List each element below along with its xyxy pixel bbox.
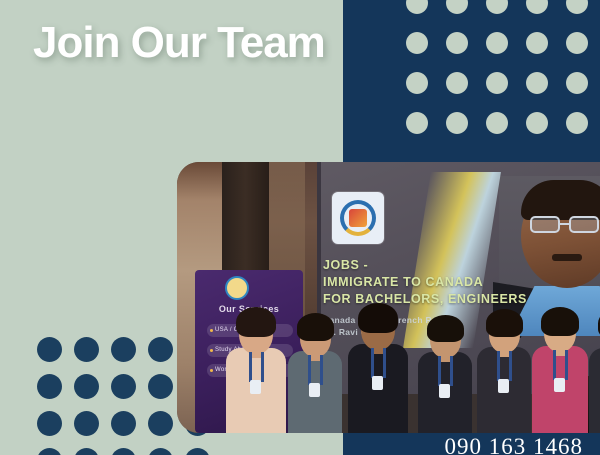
photo-person-badge	[498, 379, 509, 393]
photo-person-lanyard	[261, 352, 264, 382]
decorative-dot	[111, 411, 136, 436]
decorative-dot	[446, 112, 468, 134]
photo-person	[529, 162, 591, 433]
photo-person-lanyard	[383, 348, 386, 378]
decorative-dot	[111, 337, 136, 362]
decorative-dot	[446, 32, 468, 54]
decorative-dot	[446, 0, 468, 14]
photo-person	[225, 162, 287, 433]
decorative-dot	[526, 0, 548, 14]
decorative-dot	[148, 411, 173, 436]
photo-person-lanyard	[371, 348, 374, 378]
photo-person-lanyard	[497, 351, 500, 381]
photo-person-badge	[439, 384, 450, 398]
photo-person-lanyard	[249, 352, 252, 382]
decorative-dot	[446, 72, 468, 94]
team-group-photo: JOBS - IMMIGRATE TO CANADA FOR BACHELORS…	[177, 162, 600, 433]
contact-phone-number: 090 163 1468	[343, 434, 600, 455]
photo-person-hair	[358, 303, 398, 333]
photo-person-lanyard	[450, 356, 453, 386]
photo-person	[585, 162, 600, 433]
photo-person-hair	[236, 307, 276, 337]
decorative-dot	[566, 32, 588, 54]
decorative-dot	[148, 337, 173, 362]
decorative-dot	[526, 112, 548, 134]
photo-person-body	[589, 348, 600, 433]
decorative-dot	[406, 0, 428, 14]
decorative-dot	[37, 374, 62, 399]
decorative-dot	[486, 112, 508, 134]
photo-person-hair	[297, 313, 334, 341]
decorative-dot	[148, 448, 173, 455]
photo-person-lanyard	[438, 356, 441, 386]
decorative-dot	[148, 374, 173, 399]
decorative-dot	[566, 112, 588, 134]
page-title: Join Our Team	[33, 16, 333, 70]
photo-person	[285, 162, 345, 433]
decorative-dot	[37, 448, 62, 455]
photo-person	[473, 162, 535, 433]
decorative-dot	[74, 374, 99, 399]
decorative-dot	[37, 337, 62, 362]
decorative-dot	[111, 374, 136, 399]
photo-person-lanyard	[553, 350, 556, 380]
decorative-dot	[74, 337, 99, 362]
decorative-dot	[486, 0, 508, 14]
poster-canvas: JOBS - IMMIGRATE TO CANADA FOR BACHELORS…	[0, 0, 600, 455]
decorative-dot	[406, 32, 428, 54]
decorative-dot	[37, 411, 62, 436]
decorative-dot	[74, 448, 99, 455]
photo-person-badge	[309, 383, 320, 397]
photo-person-lanyard	[509, 351, 512, 381]
decorative-dot	[111, 448, 136, 455]
photo-person-lanyard	[565, 350, 568, 380]
photo-person-badge	[250, 380, 261, 394]
photo-person-hair	[541, 307, 579, 336]
decorative-dot	[526, 32, 548, 54]
photo-person	[413, 162, 477, 433]
photo-person-hair	[486, 309, 523, 337]
photo-person-hair	[427, 315, 464, 342]
decorative-dot	[566, 72, 588, 94]
decorative-dot	[74, 411, 99, 436]
photo-person-lanyard	[320, 355, 323, 385]
decorative-dot	[486, 32, 508, 54]
decorative-dot-grid-top-right	[406, 0, 600, 152]
photo-person-badge	[554, 378, 565, 392]
decorative-dot	[566, 0, 588, 14]
decorative-dot	[185, 448, 210, 455]
decorative-dot	[406, 112, 428, 134]
decorative-dot	[526, 72, 548, 94]
photo-person-lanyard	[308, 355, 311, 385]
photo-person-badge	[372, 376, 383, 390]
decorative-dot	[406, 72, 428, 94]
decorative-dot	[486, 72, 508, 94]
photo-person	[343, 162, 413, 433]
